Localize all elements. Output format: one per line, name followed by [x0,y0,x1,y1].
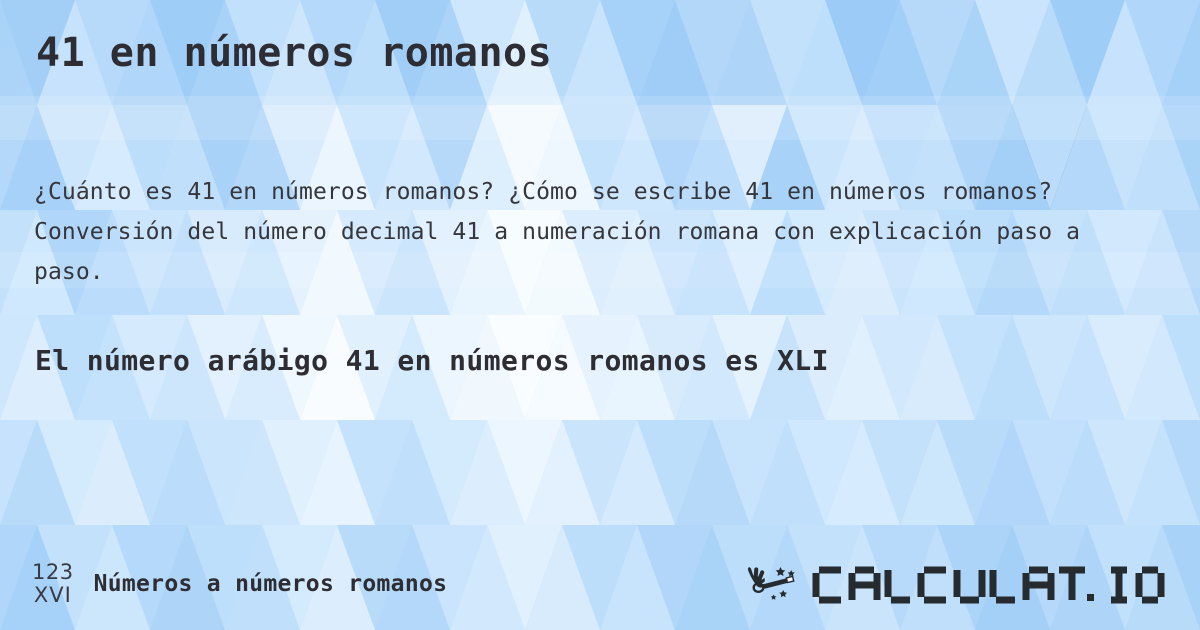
description-text: ¿Cuánto es 41 en números romanos? ¿Cómo … [34,172,1114,292]
footer-left-group: 123 XVI Números a números romanos [32,562,447,606]
result-statement: El número arábigo 41 en números romanos … [35,344,829,377]
brand-wordmark-calculatio [810,562,1100,606]
logo-numerator: 123 [32,562,74,583]
brand-wordmark-io-suffix [1106,562,1166,606]
footer-category-label: Números a números romanos [94,571,448,597]
logo-denominator: XVI [34,585,72,606]
magic-wand-hand-icon [740,561,804,607]
fraction-123-xvi-logo-icon: 123 XVI [32,562,74,606]
page-title: 41 en números romanos [36,30,552,76]
share-card: 41 en números romanos ¿Cuánto es 41 en n… [0,0,1200,630]
footer: 123 XVI Números a números romanos [0,538,1200,630]
brand-logo[interactable] [740,561,1166,607]
